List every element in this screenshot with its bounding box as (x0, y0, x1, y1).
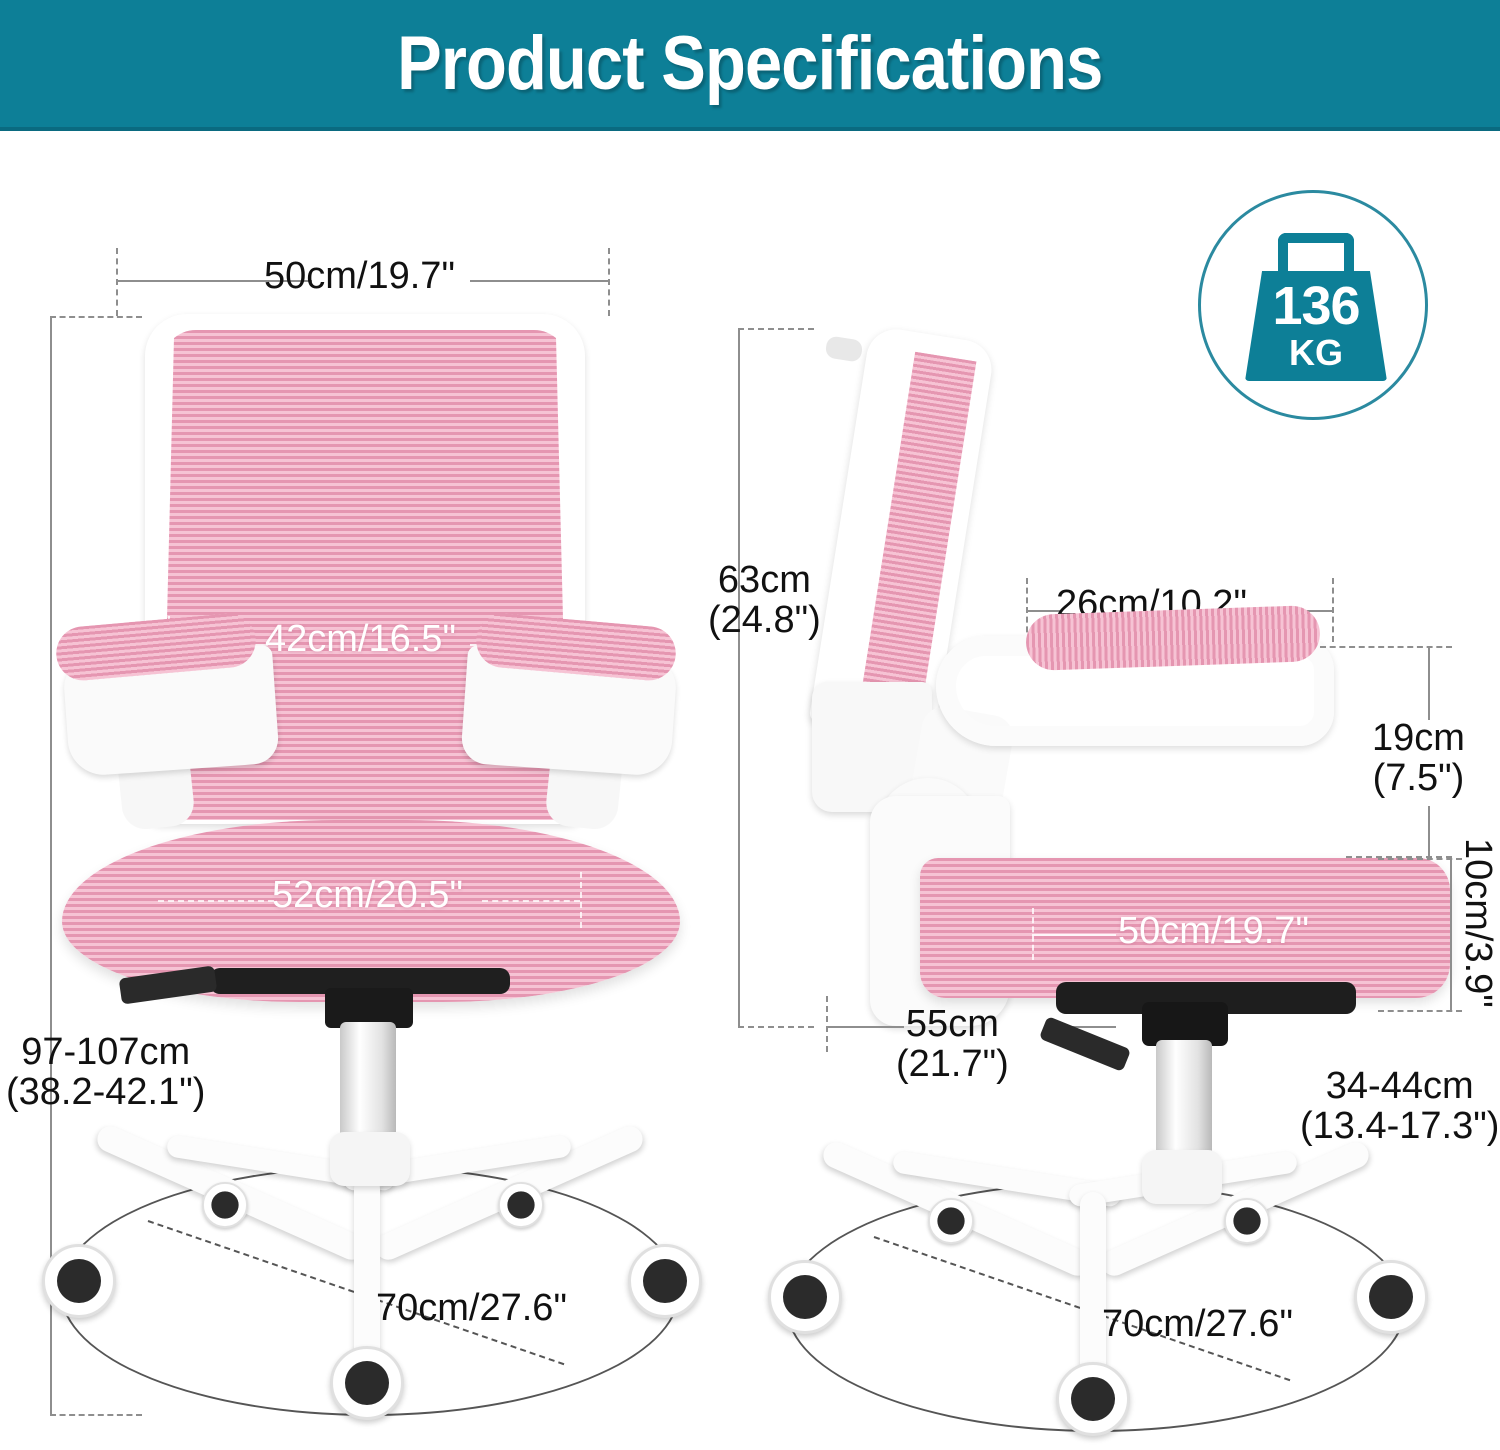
front-view: 50cm/19.7" 97-107cm (38.2-42.1") 42cm/16… (40, 300, 700, 1420)
dim-line-side-seat-width (1032, 934, 1116, 936)
dim-line-armrest-length-l (1026, 610, 1060, 612)
side-view: 63cm (24.8") 26cm/10.2" 50cm/19.7" 19cm … (760, 310, 1460, 1420)
side-base-hub (1142, 1150, 1222, 1204)
dim-seat-thickness: 10cm/3.9" (1458, 838, 1498, 1008)
dim-total-height-in: (38.2-42.1") (6, 1072, 205, 1112)
dim-ext-armrest-height-top (1320, 646, 1452, 648)
dim-line-seat-width-l (158, 900, 274, 902)
dim-ext-left-top (116, 248, 118, 316)
front-caster-right (628, 1244, 702, 1318)
dim-total-height: 97-107cm (38.2-42.1") (6, 1032, 205, 1113)
weight-icon-handle (1278, 233, 1354, 273)
front-base-hub (330, 1132, 410, 1186)
page-title: Product Specifications (397, 20, 1102, 107)
side-caster-left (768, 1260, 842, 1334)
side-caster-center (1056, 1362, 1130, 1436)
dim-seat-height-range-cm: 34-44cm (1300, 1066, 1499, 1106)
dim-front-base-diameter: 70cm/27.6" (376, 1288, 567, 1328)
dim-ext-seat-width-right (580, 872, 582, 928)
header-banner: Product Specifications (0, 0, 1500, 131)
dim-backrest-width: 42cm/16.5" (265, 618, 456, 661)
dim-ext-height-bottom (50, 1414, 142, 1416)
dim-line-backrest-height (738, 328, 740, 1028)
dim-backrest-height-in: (24.8") (708, 600, 821, 640)
dim-line-total-height (50, 316, 52, 1416)
dim-ext-seat-thickness-bottom (1378, 1010, 1462, 1012)
side-tilt-lever (1039, 1016, 1131, 1072)
dim-seat-depth-cm: 55cm (896, 1004, 1009, 1044)
dim-ext-right-top (608, 248, 610, 316)
dim-line-seat-depth-l (826, 1026, 904, 1028)
front-base-leg-5 (354, 1176, 380, 1374)
dim-backrest-height: 63cm (24.8") (708, 560, 821, 641)
dim-side-seat-width: 50cm/19.7" (1118, 910, 1309, 953)
dim-backrest-height-cm: 63cm (708, 560, 821, 600)
dim-ext-backrest-height-bottom (738, 1026, 814, 1028)
dim-line-armrest-height-2 (1428, 806, 1430, 856)
dim-total-height-cm: 97-107cm (6, 1032, 205, 1072)
side-caster-back-right (1224, 1198, 1270, 1244)
front-gas-cylinder (340, 1022, 396, 1146)
dim-line-armrest-height (1428, 646, 1430, 720)
dim-seat-depth: 55cm (21.7") (896, 1004, 1009, 1085)
dim-seat-height-range-in: (13.4-17.3") (1300, 1106, 1499, 1146)
dim-armrest-height-in: (7.5") (1372, 758, 1465, 798)
dim-seat-height-range: 34-44cm (13.4-17.3") (1300, 1066, 1499, 1147)
front-caster-back-left (202, 1182, 248, 1228)
side-caster-back-left (928, 1198, 974, 1244)
dim-armrest-height-cm: 19cm (1372, 718, 1465, 758)
front-caster-center (330, 1346, 404, 1420)
dim-seat-depth-in: (21.7") (896, 1044, 1009, 1084)
front-caster-back-right (498, 1182, 544, 1228)
side-gas-cylinder (1156, 1040, 1212, 1164)
dim-ext-armrest-right (1332, 578, 1334, 642)
dim-seat-width: 52cm/20.5" (272, 874, 463, 917)
dim-overall-width: 50cm/19.7" (264, 256, 455, 296)
front-caster-left (42, 1244, 116, 1318)
side-backrest-knob (825, 335, 864, 362)
dim-side-base-diameter: 70cm/27.6" (1102, 1304, 1293, 1344)
dim-armrest-height: 19cm (7.5") (1372, 718, 1465, 799)
dim-line-seat-thickness (1450, 858, 1452, 1010)
side-caster-right (1354, 1260, 1428, 1334)
dim-ext-seat-depth-left (826, 996, 828, 1052)
side-base-leg-5 (1080, 1192, 1106, 1390)
side-armrest-pad (1025, 605, 1321, 671)
side-seat-front-lip (1382, 870, 1452, 994)
dim-ext-height-top (50, 316, 142, 318)
dim-ext-backrest-height-top (738, 328, 814, 330)
dim-ext-side-seat-left (1032, 908, 1034, 960)
dim-line-overall-width-2 (470, 280, 610, 282)
dim-line-seat-width-r (482, 900, 580, 902)
